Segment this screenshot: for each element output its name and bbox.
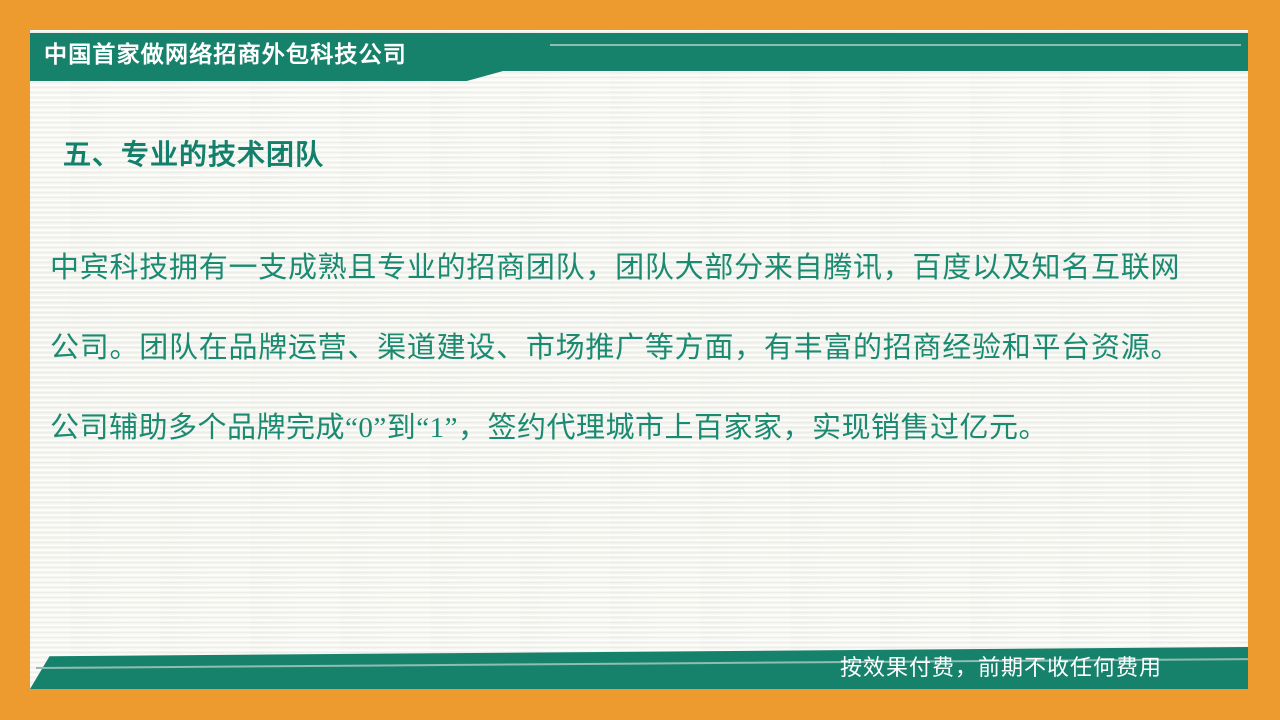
- header-hairline-divider: [547, 44, 1241, 46]
- footer-tagline: 按效果付费，前期不收任何费用: [840, 650, 1240, 686]
- body-paragraph: 中宾科技拥有一支成熟且专业的招商团队，团队大部分来自腾讯，百度以及知名互联网公司…: [50, 228, 1180, 468]
- section-heading: 五、专业的技术团队: [63, 133, 324, 173]
- slide-canvas: 中国首家做网络招商外包科技公司 五、专业的技术团队 中宾科技拥有一支成熟且专业的…: [0, 0, 1280, 720]
- header-title: 中国首家做网络招商外包科技公司: [44, 37, 514, 71]
- header-band-right-cap: [1180, 33, 1248, 71]
